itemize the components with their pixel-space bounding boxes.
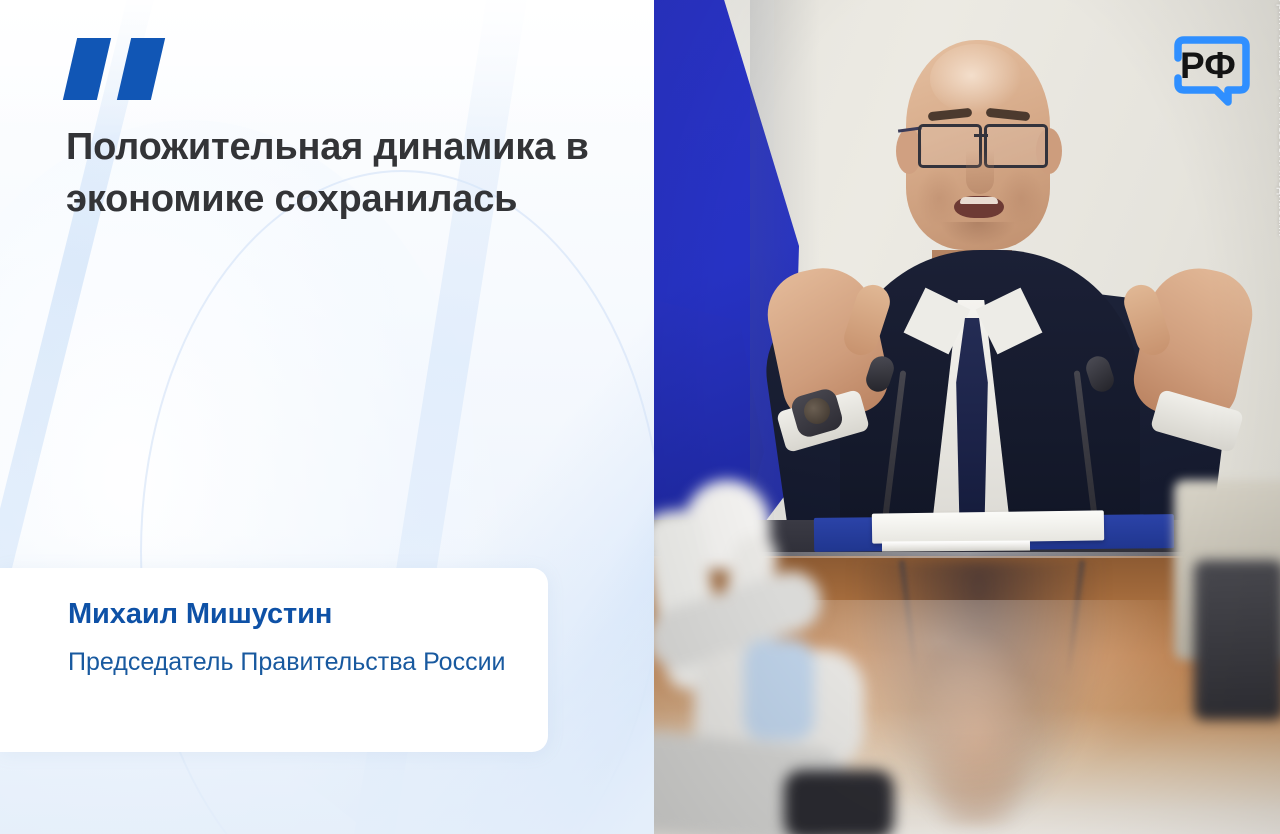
quote-mark-bar-left: [63, 38, 111, 100]
quote-card-graphic: Положительная динамика в экономике сохра…: [0, 0, 1280, 834]
quote-mark-bar-right: [117, 38, 165, 100]
speaker-card: Михаил Мишустин Председатель Правительст…: [0, 568, 548, 752]
rf-logo-letters: РФ: [1180, 45, 1236, 86]
photo-vignette: [654, 0, 1280, 834]
photo-credit: Фото: Дмитрий Астахов / РИА Новости Меди…: [1276, 0, 1280, 236]
speaker-role: Председатель Правительства России: [68, 644, 506, 680]
speaker-photo: Фото: Дмитрий Астахов / РИА Новости Меди…: [654, 0, 1280, 834]
quote-mark-icon: [66, 38, 176, 100]
quote-headline: Положительная динамика в экономике сохра…: [66, 121, 626, 225]
speaker-name: Михаил Мишустин: [68, 597, 332, 631]
rf-logo-icon: РФ: [1166, 28, 1258, 120]
